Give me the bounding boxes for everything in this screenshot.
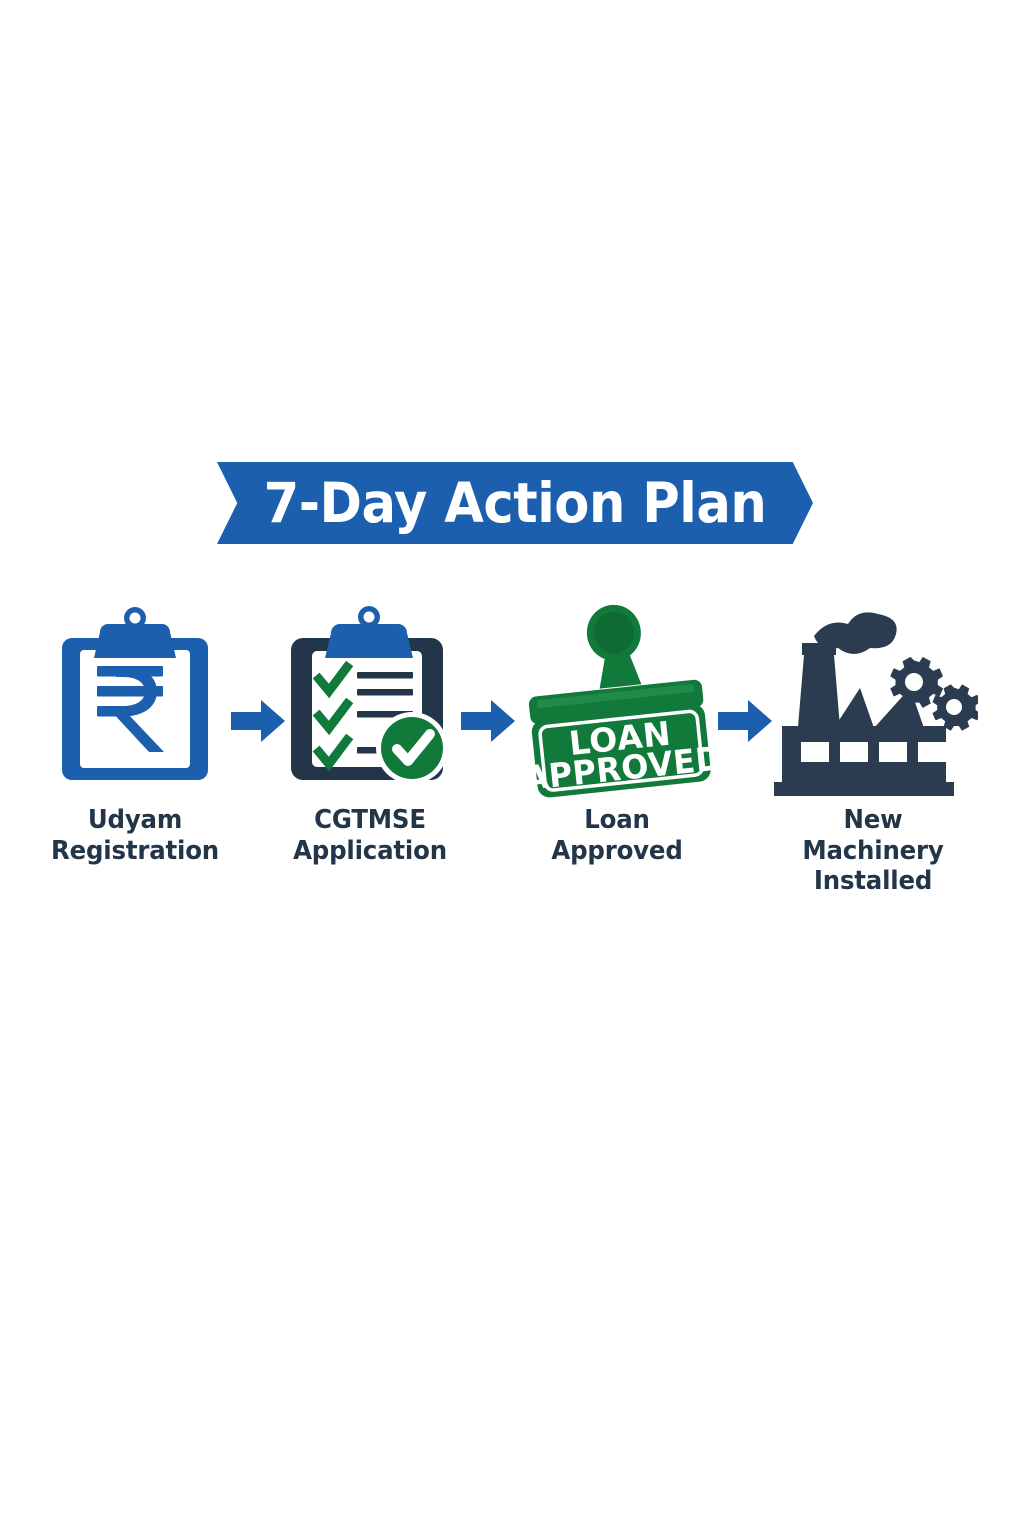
step-label-line2: Approved xyxy=(518,836,715,867)
rubber-stamp-icon: LOAN APPROVED xyxy=(512,600,722,805)
step-label: Udyam Registration xyxy=(36,805,233,866)
infographic-page: { "banner": { "title": "7-Day Action Pla… xyxy=(0,0,1024,1536)
step-label-line1: Udyam xyxy=(36,805,233,836)
flow-step-udyam-registration: Udyam Registration xyxy=(30,600,240,866)
banner: 7-Day Action Plan xyxy=(0,462,1024,546)
step-label: New Machinery Installed xyxy=(774,805,971,897)
step-label-line2: Application xyxy=(271,836,468,867)
step-label-line1: CGTMSE xyxy=(271,805,468,836)
page-title: 7-Day Action Plan xyxy=(238,462,792,544)
step-label: CGTMSE Application xyxy=(271,805,468,866)
step-label-line2: Registration xyxy=(36,836,233,867)
step-label-line1: New xyxy=(774,805,971,836)
flow-step-cgtmse-application: CGTMSE Application xyxy=(265,600,475,866)
process-flow: Udyam Registration xyxy=(0,600,1024,940)
clipboard-checklist-approved-icon xyxy=(265,600,475,805)
flow-step-loan-approved: LOAN APPROVED Loan Approved xyxy=(512,600,722,866)
flow-step-new-machinery-installed: New Machinery Installed xyxy=(768,600,978,897)
clipboard-rupee-icon xyxy=(30,600,240,805)
step-label-line1: Loan xyxy=(518,805,715,836)
factory-gears-icon xyxy=(768,600,978,805)
step-label: Loan Approved xyxy=(518,805,715,866)
step-label-line2: Machinery xyxy=(774,836,971,867)
step-label-line3: Installed xyxy=(774,866,971,897)
